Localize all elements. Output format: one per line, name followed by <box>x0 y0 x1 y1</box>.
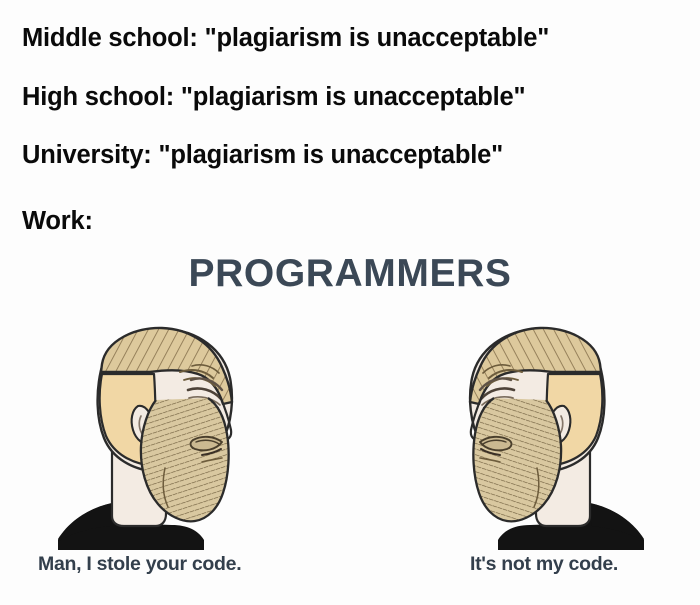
chad-right <box>435 318 650 553</box>
chad-face-icon <box>435 318 650 553</box>
top-text-line-3: University: "plagiarism is unacceptable" <box>22 143 700 169</box>
chad-face-icon <box>52 318 267 553</box>
meme-image: Middle school: "plagiarism is unacceptab… <box>0 0 700 605</box>
panel-title: PROGRAMMERS <box>0 254 700 293</box>
characters-row <box>0 318 700 553</box>
captions-row: Man, I stole your code. It's not my code… <box>0 551 700 586</box>
top-text-line-1: Middle school: "plagiarism is unacceptab… <box>22 26 700 52</box>
top-text-line-2: High school: "plagiarism is unacceptable… <box>22 85 700 111</box>
top-text-line-4: Work: <box>22 209 700 235</box>
caption-left: Man, I stole your code. <box>38 551 241 577</box>
chad-left <box>52 318 267 553</box>
top-text-block: Middle school: "plagiarism is unacceptab… <box>0 0 700 267</box>
caption-right: It's not my code. <box>470 551 618 577</box>
